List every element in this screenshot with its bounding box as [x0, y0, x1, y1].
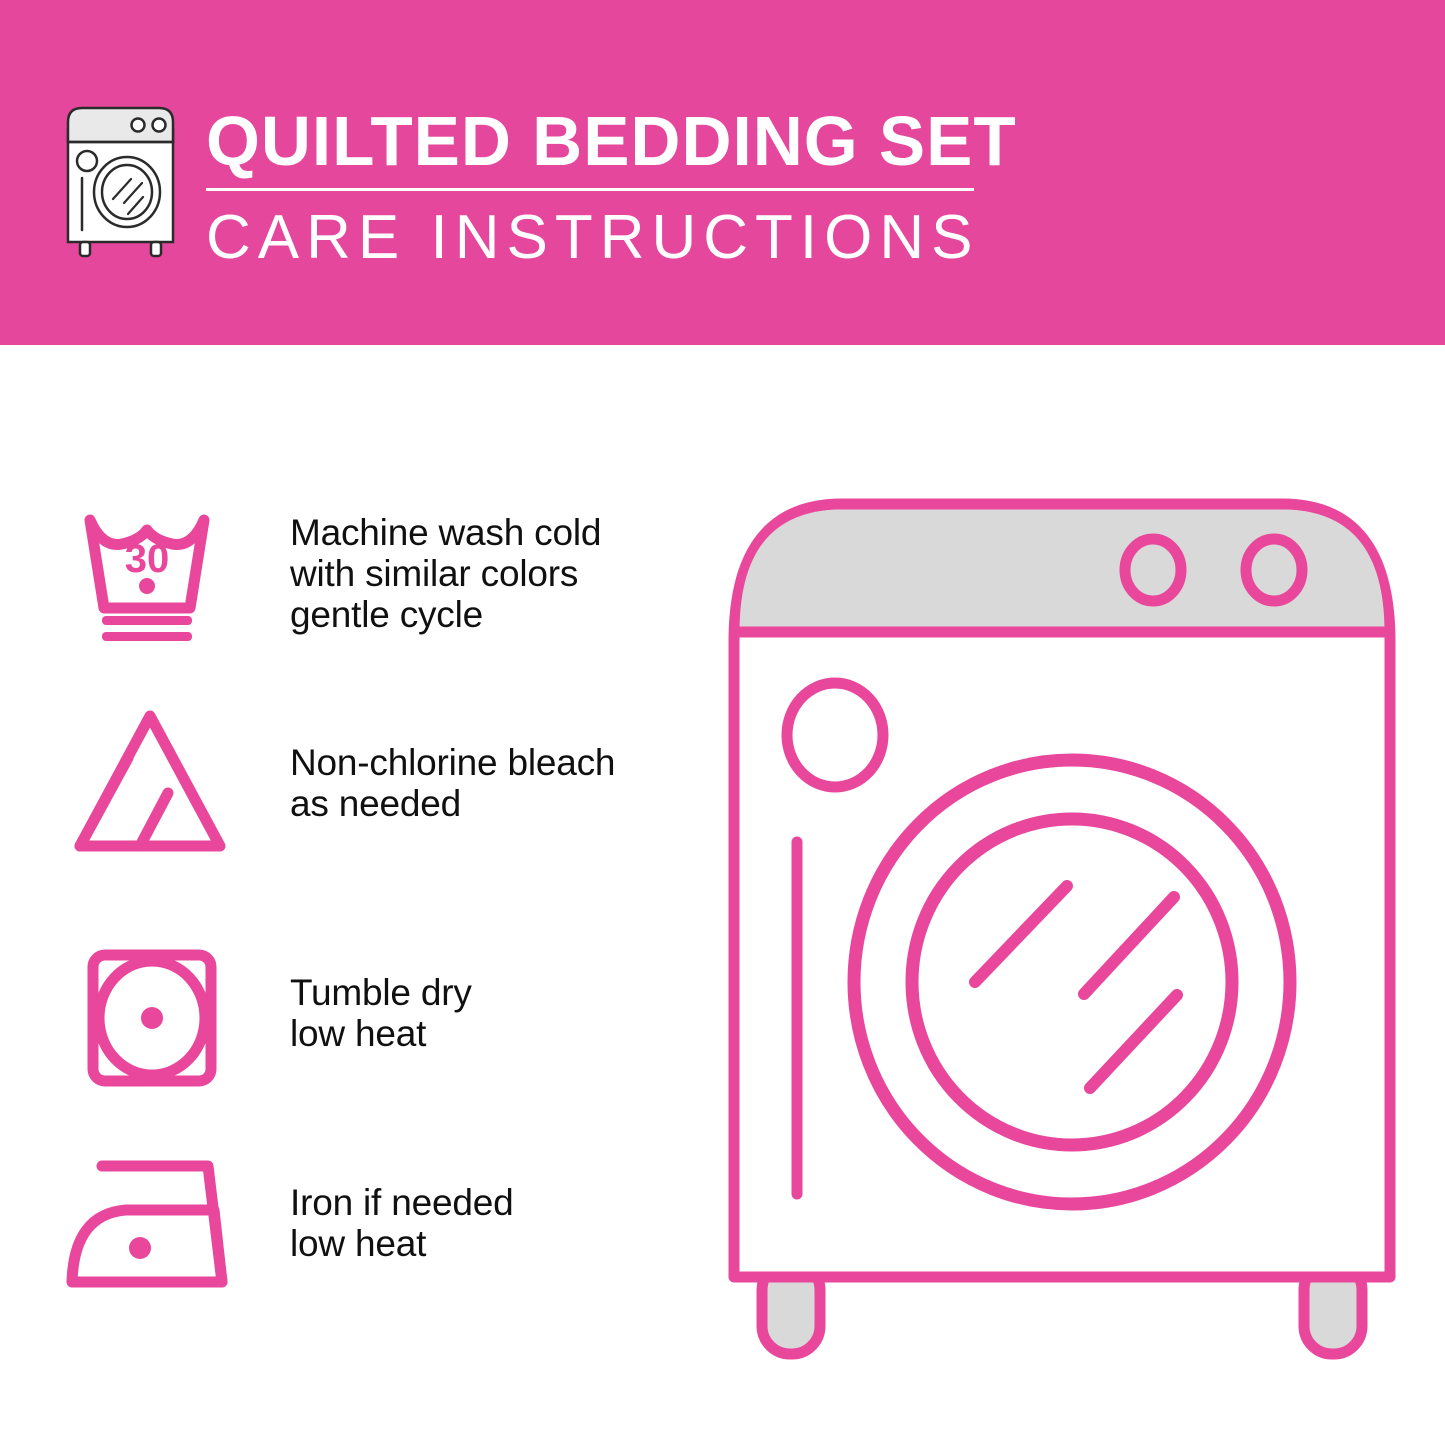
bleach-triangle-icon [62, 706, 232, 856]
care-line: gentle cycle [290, 594, 601, 635]
care-row-iron: Iron if needed low heat [0, 1152, 700, 1312]
care-instructions-page: QUILTED BEDDING SET CARE INSTRUCTIONS 30… [0, 0, 1445, 1445]
care-row-machine-wash: 30 Machine wash cold with similar colors… [0, 500, 700, 660]
title-divider [206, 188, 974, 191]
care-line: Machine wash cold [290, 512, 601, 553]
care-text-bleach: Non-chlorine bleach as needed [290, 742, 615, 824]
care-row-bleach: Non-chlorine bleach as needed [0, 706, 700, 866]
care-line: low heat [290, 1223, 513, 1264]
care-line: Iron if needed [290, 1182, 513, 1223]
care-text-iron: Iron if needed low heat [290, 1182, 513, 1264]
page-subtitle: CARE INSTRUCTIONS [206, 205, 996, 271]
care-line: with similar colors [290, 553, 601, 594]
care-text-tumble-dry: Tumble dry low heat [290, 972, 472, 1054]
care-line: low heat [290, 1013, 472, 1054]
header-band: QUILTED BEDDING SET CARE INSTRUCTIONS [0, 0, 1445, 345]
wash-tub-30-icon: 30 [62, 500, 232, 650]
care-text-machine-wash: Machine wash cold with similar colors ge… [290, 512, 601, 635]
page-title: QUILTED BEDDING SET [206, 104, 988, 178]
washing-machine-icon [58, 100, 188, 260]
wash-temp-label: 30 [125, 537, 170, 581]
washing-machine-illustration [722, 482, 1402, 1362]
header-text-block: QUILTED BEDDING SET CARE INSTRUCTIONS [206, 104, 996, 271]
care-row-tumble-dry: Tumble dry low heat [0, 940, 700, 1100]
care-line: as needed [290, 783, 615, 824]
iron-low-heat-icon [62, 1152, 232, 1302]
care-line: Tumble dry [290, 972, 472, 1013]
care-line: Non-chlorine bleach [290, 742, 615, 783]
tumble-dry-low-icon [62, 940, 232, 1090]
